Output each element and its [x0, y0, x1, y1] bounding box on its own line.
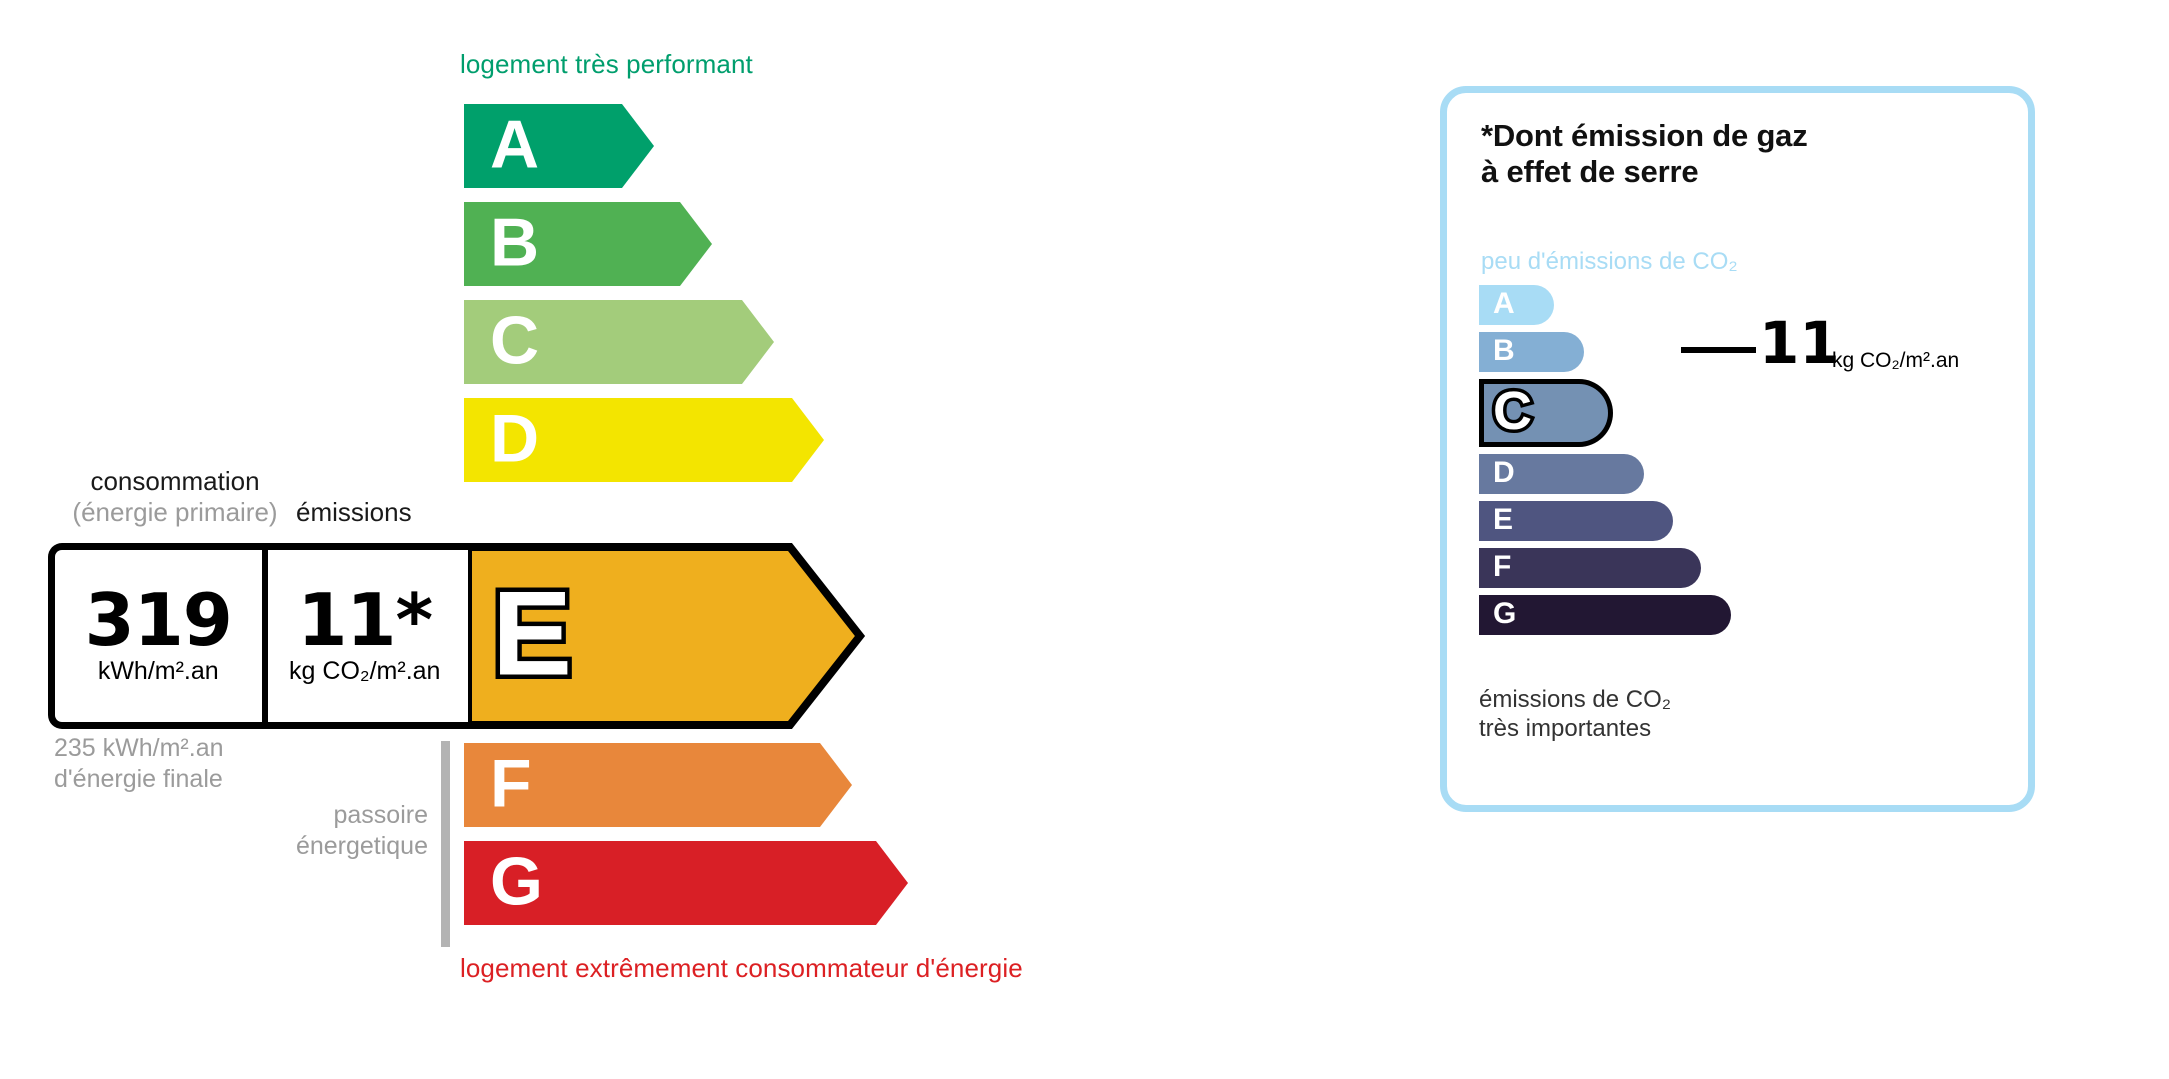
ges-bar-letter-b: B — [1493, 336, 1515, 366]
values-box: 319 kWh/m².an 11* kg CO₂/m².an — [48, 543, 468, 729]
ges-bar-shape-a — [1479, 285, 1554, 325]
ges-value-cell: 11* kg CO₂/m².an — [262, 586, 469, 686]
energy-value: 319 — [55, 586, 262, 654]
ges-bar-shape-g — [1479, 595, 1731, 635]
ges-unit: kg CO₂/m².an — [262, 658, 469, 686]
ges-bottom-caption: émissions de CO₂ très importantes — [1479, 686, 1671, 744]
energy-band-letter-a: A — [490, 111, 539, 179]
ges-title-line1: *Dont émission de gaz — [1481, 118, 1808, 154]
greenhouse-gas-panel: *Dont émission de gaz à effet de serre p… — [1440, 86, 2035, 812]
ges-bar-shape-f — [1479, 548, 1701, 588]
ges-bar-letter-e: E — [1493, 505, 1513, 535]
energy-performance-scale: logement très performant A B C — [0, 0, 1400, 1079]
ges-bar-c-left-edge — [1479, 379, 1484, 447]
energy-band-letter-d: D — [490, 405, 539, 473]
ges-bottom-caption-line2: très importantes — [1479, 715, 1671, 744]
ges-bar-letter-f: F — [1493, 552, 1511, 582]
final-energy-line1: 235 kWh/m².an — [54, 733, 224, 764]
energy-band-letter-f: F — [490, 750, 532, 818]
ges-bar-letter-g: G — [1493, 599, 1516, 629]
dpe-diagram: logement très performant A B C — [0, 0, 2169, 1079]
consumption-title: consommation — [90, 466, 259, 496]
energy-value-cell: 319 kWh/m².an — [55, 586, 262, 686]
final-energy-line2: d'énergie finale — [54, 764, 224, 795]
emissions-header: émissions — [296, 497, 412, 528]
ges-value: 11* — [262, 586, 469, 654]
final-energy-note: 235 kWh/m².an d'énergie finale — [54, 733, 224, 794]
ges-title-line2: à effet de serre — [1481, 154, 1808, 190]
energy-unit: kWh/m².an — [55, 658, 262, 686]
energy-scale-bottom-caption: logement extrêmement consommateur d'éner… — [460, 953, 1023, 984]
energy-band-letter-e: E — [492, 574, 572, 694]
passoire-line1: passoire — [210, 800, 428, 831]
passoire-divider-rule — [441, 741, 450, 947]
energy-band-letter-g: G — [490, 848, 543, 916]
ges-panel-title: *Dont émission de gaz à effet de serre — [1481, 118, 1808, 190]
ges-top-caption: peu d'émissions de CO₂ — [1481, 248, 1738, 276]
ges-callout-leader-line — [1681, 347, 1756, 353]
energy-band-letter-c: C — [490, 307, 539, 375]
consumption-header: consommation (énergie primaire) — [60, 466, 290, 528]
energy-scale-top-caption: logement très performant — [460, 49, 753, 80]
energy-band-letter-b: B — [490, 209, 539, 277]
passoire-label: passoire énergetique — [210, 800, 428, 861]
consumption-subtitle: (énergie primaire) — [60, 497, 290, 528]
ges-bar-letter-c: C — [1493, 384, 1532, 438]
ges-bottom-caption-line1: émissions de CO₂ — [1479, 686, 1671, 715]
ges-bar-letter-d: D — [1493, 458, 1515, 488]
passoire-line2: énergetique — [210, 831, 428, 862]
ges-callout-unit: kg CO₂/m².an — [1832, 349, 1959, 373]
ges-callout-value: 11 — [1759, 314, 1840, 372]
ges-bar-letter-a: A — [1493, 289, 1515, 319]
